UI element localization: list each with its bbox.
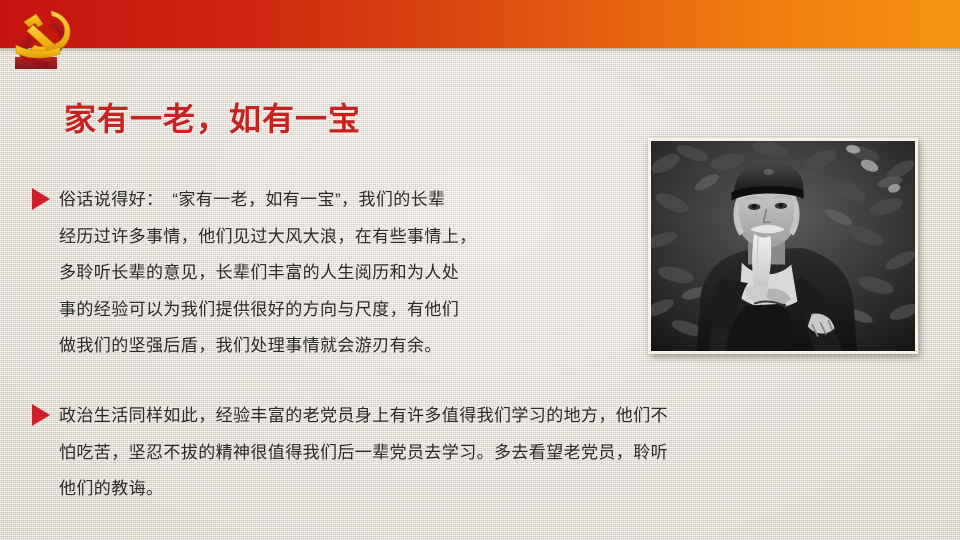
elderly-man-photo-frame — [648, 138, 918, 354]
header-shadow — [0, 48, 960, 53]
red-triangle-bullet — [32, 188, 50, 210]
paragraph-line: 他们的教诲。 — [59, 471, 931, 508]
slide-canvas: 家有一老，如有一宝 俗话说得好： “家有一老，如有一宝”，我们的长辈 经历过许多… — [0, 0, 960, 540]
ccp-hammer-sickle-emblem — [8, 4, 84, 70]
content-block-2: 政治生活同样如此，经验丰富的老党员身上有许多值得我们学习的地方，他们不 怕吃苦，… — [32, 398, 932, 508]
elderly-man-photo — [651, 141, 915, 351]
page-title: 家有一老，如有一宝 — [64, 94, 361, 140]
paragraph-line: 多聆听长辈的意见，长辈们丰富的人生阅历和为人处 — [59, 255, 631, 292]
paragraph-line: 政治生活同样如此，经验丰富的老党员身上有许多值得我们学习的地方，他们不 — [59, 398, 931, 435]
paragraph-1: 俗话说得好： “家有一老，如有一宝”，我们的长辈 经历过许多事情，他们见过大风大… — [59, 182, 631, 365]
paragraph-line: 事的经验可以为我们提供很好的方向与尺度，有他们 — [59, 292, 631, 329]
paragraph-line: 俗话说得好： “家有一老，如有一宝”，我们的长辈 — [59, 182, 631, 219]
paragraph-line: 经历过许多事情，他们见过大风大浪，在有些事情上， — [59, 219, 631, 256]
paragraph-line: 做我们的坚强后盾，我们处理事情就会游刃有余。 — [59, 328, 631, 365]
header-bar — [0, 0, 960, 48]
content-block-1: 俗话说得好： “家有一老，如有一宝”，我们的长辈 经历过许多事情，他们见过大风大… — [32, 182, 632, 365]
paragraph-2: 政治生活同样如此，经验丰富的老党员身上有许多值得我们学习的地方，他们不 怕吃苦，… — [59, 398, 931, 508]
red-triangle-bullet — [32, 404, 50, 426]
paragraph-line: 怕吃苦，坚忍不拔的精神很值得我们后一辈党员去学习。多去看望老党员，聆听 — [59, 435, 931, 472]
